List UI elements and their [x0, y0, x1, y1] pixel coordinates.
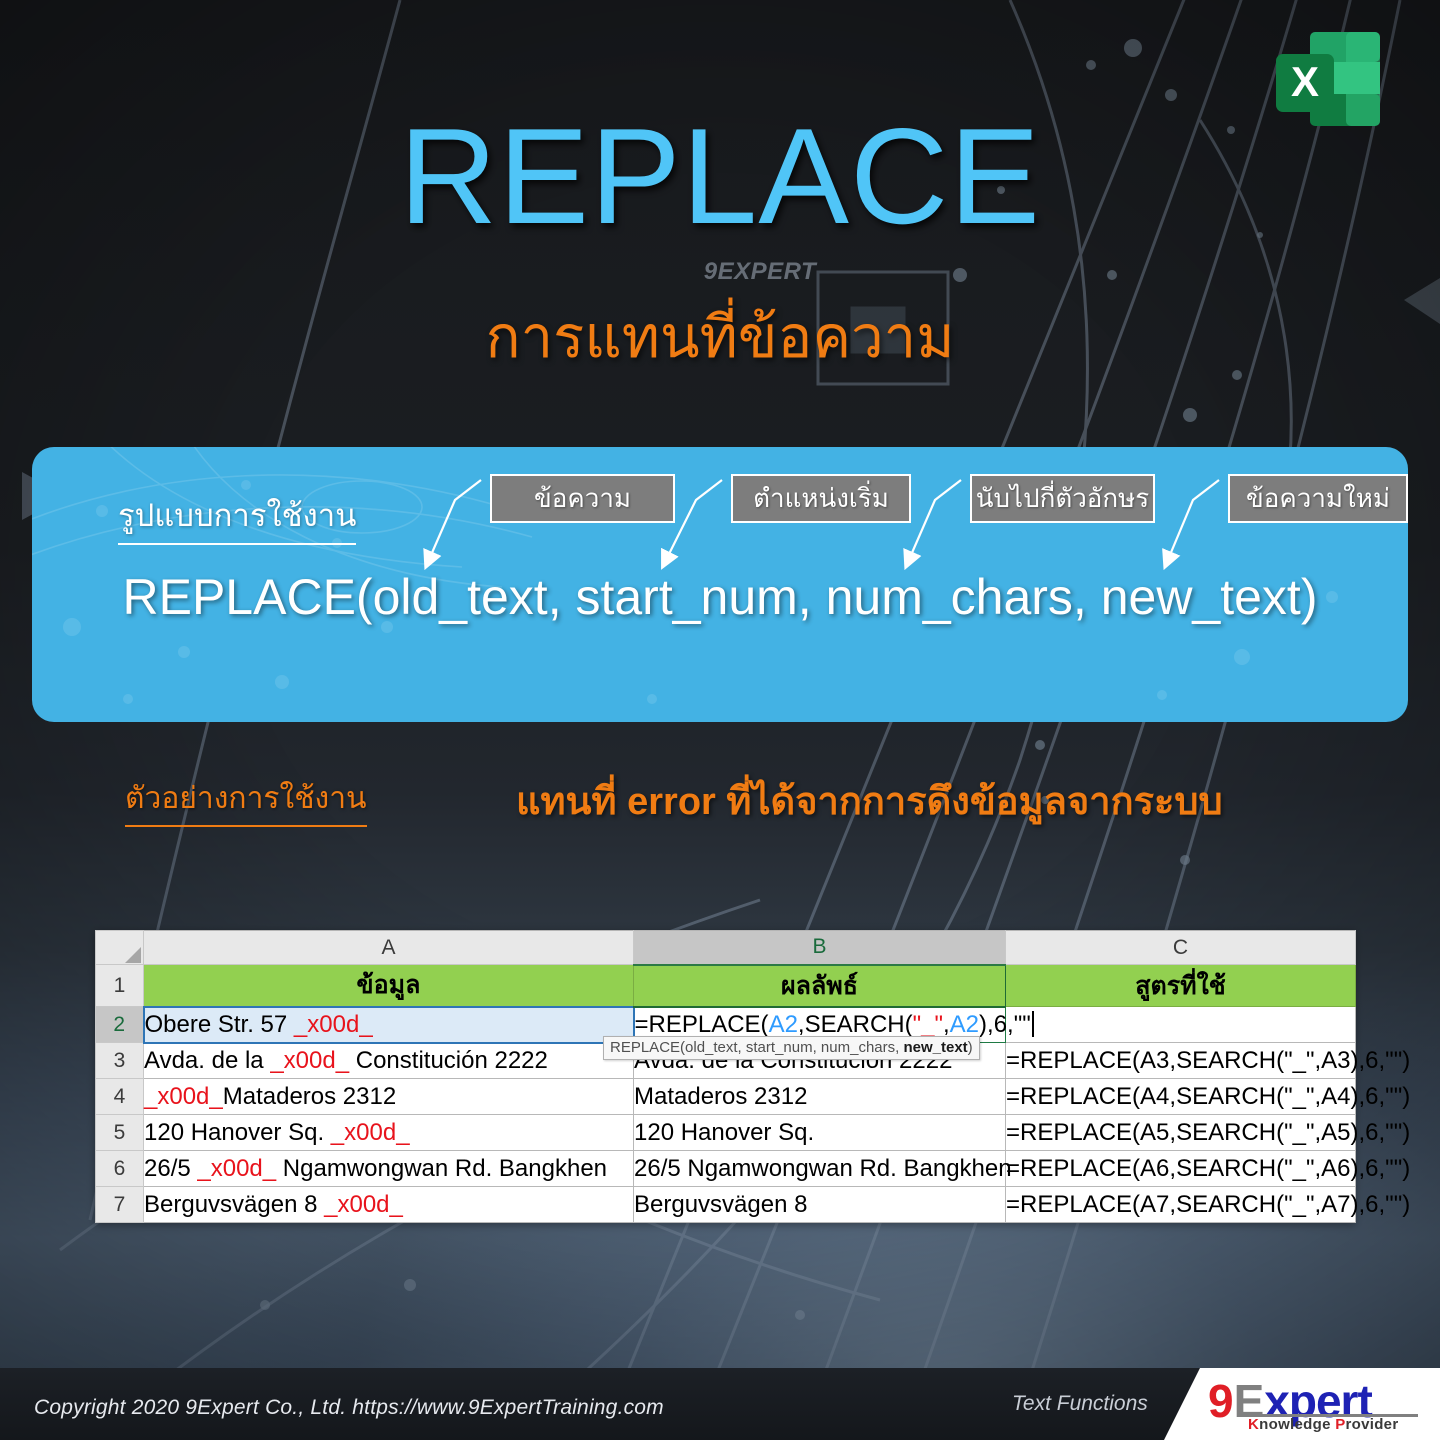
callout-start-num: ตำแหน่งเริ่ม: [731, 474, 911, 523]
cell-a5-error-token: _x00d_: [331, 1119, 410, 1146]
cell-c1[interactable]: สูตรที่ใช้: [1006, 965, 1356, 1007]
cell-a6-post: Ngamwongwan Rd. Bangkhen: [276, 1155, 607, 1182]
logo-tag-k: K: [1248, 1416, 1259, 1433]
syntax-formula: REPLACE(old_text, start_num, num_chars, …: [0, 568, 1440, 626]
formula-part-4: ),6,"": [979, 1011, 1031, 1038]
logo-tagline: Knowledge Provider: [1248, 1416, 1398, 1433]
cell-a3[interactable]: Avda. de la _x00d_ Constitución 2222: [144, 1043, 634, 1079]
formula-part-3: ,: [943, 1011, 950, 1038]
callout-old-text: ข้อความ: [490, 474, 675, 523]
cell-c2[interactable]: [1006, 1007, 1356, 1043]
table-row: 6 26/5 _x00d_ Ngamwongwan Rd. Bangkhen 2…: [96, 1151, 1356, 1187]
spreadsheet: A B C 1 ข้อมูล ผลลัพธ์ สูตรที่ใช้ 2 Ober…: [95, 930, 1355, 1223]
tooltip-suffix: ): [968, 1039, 973, 1056]
row-header-3[interactable]: 3: [96, 1043, 144, 1079]
callout-num-chars: นับไปกี่ตัวอักษร: [970, 474, 1155, 523]
cell-c7[interactable]: =REPLACE(A7,SEARCH("_",A7),6,""): [1006, 1187, 1356, 1223]
table-row: 7 Berguvsvägen 8 _x00d_ Berguvsvägen 8 =…: [96, 1187, 1356, 1223]
corner-triangle-icon: [125, 947, 141, 963]
formula-ref-a2-second: A2: [950, 1011, 979, 1038]
column-header-row: A B C: [96, 931, 1356, 965]
row-header-7[interactable]: 7: [96, 1187, 144, 1223]
cell-a4[interactable]: _x00d_Mataderos 2312: [144, 1079, 634, 1115]
svg-text:X: X: [1291, 58, 1319, 105]
cell-a5[interactable]: 120 Hanover Sq. _x00d_: [144, 1115, 634, 1151]
table-row: 4 _x00d_Mataderos 2312 Mataderos 2312 =R…: [96, 1079, 1356, 1115]
row-header-2[interactable]: 2: [96, 1007, 144, 1043]
formula-tooltip: REPLACE(old_text, start_num, num_chars, …: [603, 1036, 980, 1060]
column-header-c[interactable]: C: [1006, 931, 1356, 965]
cell-a3-post: Constitución 2222: [349, 1047, 548, 1074]
cell-a5-pre: 120 Hanover Sq.: [144, 1119, 331, 1146]
row-header-4[interactable]: 4: [96, 1079, 144, 1115]
table-row-header: 1 ข้อมูล ผลลัพธ์ สูตรที่ใช้: [96, 965, 1356, 1007]
cell-a6[interactable]: 26/5 _x00d_ Ngamwongwan Rd. Bangkhen: [144, 1151, 634, 1187]
watermark-text: 9EXPERT: [0, 258, 1440, 286]
cell-c3[interactable]: =REPLACE(A3,SEARCH("_",A3),6,""): [1006, 1043, 1356, 1079]
cell-a2-error-token: _x00d_: [294, 1011, 373, 1038]
cell-a2-pre: Obere Str. 57: [145, 1011, 294, 1038]
formula-part-2: ,SEARCH(: [798, 1011, 913, 1038]
cell-a6-pre: 26/5: [144, 1155, 197, 1182]
cell-a3-error-token: _x00d_: [270, 1047, 349, 1074]
cell-b6[interactable]: 26/5 Ngamwongwan Rd. Bangkhen: [634, 1151, 1006, 1187]
logo-nine: 9: [1208, 1375, 1234, 1427]
cell-b7[interactable]: Berguvsvägen 8: [634, 1187, 1006, 1223]
cell-c4[interactable]: =REPLACE(A4,SEARCH("_",A4),6,""): [1006, 1079, 1356, 1115]
row-header-1[interactable]: 1: [96, 965, 144, 1007]
logo-tag-p: P: [1335, 1416, 1345, 1433]
cell-a7-error-token: _x00d_: [324, 1191, 403, 1218]
column-header-b[interactable]: B: [634, 931, 1006, 965]
text-caret: [1032, 1011, 1034, 1037]
formula-ref-a2-first: A2: [769, 1011, 798, 1038]
cell-a7[interactable]: Berguvsvägen 8 _x00d_: [144, 1187, 634, 1223]
cell-a1[interactable]: ข้อมูล: [144, 965, 634, 1007]
cell-a2[interactable]: Obere Str. 57 _x00d_: [144, 1007, 634, 1043]
cell-c5[interactable]: =REPLACE(A5,SEARCH("_",A5),6,""): [1006, 1115, 1356, 1151]
table-row: 5 120 Hanover Sq. _x00d_ 120 Hanover Sq.…: [96, 1115, 1356, 1151]
row-header-6[interactable]: 6: [96, 1151, 144, 1187]
logo-tag-end: rovider: [1346, 1416, 1399, 1433]
example-description: แทนที่ error ที่ได้จากการดึงข้อมูลจากระบ…: [516, 770, 1223, 831]
cell-b5[interactable]: 120 Hanover Sq.: [634, 1115, 1006, 1151]
cell-b1[interactable]: ผลลัพธ์: [634, 965, 1006, 1007]
cell-a4-post: Mataderos 2312: [223, 1083, 396, 1110]
page-title: REPLACE: [0, 108, 1440, 244]
callout-new-text: ข้อความใหม่: [1228, 474, 1408, 523]
syntax-label: รูปแบบการใช้งาน: [118, 490, 356, 545]
row-header-5[interactable]: 5: [96, 1115, 144, 1151]
cell-a6-error-token: _x00d_: [197, 1155, 276, 1182]
page-subtitle: การแทนที่ข้อความ: [0, 305, 1440, 372]
cell-b4[interactable]: Mataderos 2312: [634, 1079, 1006, 1115]
formula-quoted-underscore: "_": [913, 1011, 943, 1038]
formula-part-1: =REPLACE(: [635, 1011, 769, 1038]
cell-c6[interactable]: =REPLACE(A6,SEARCH("_",A6),6,""): [1006, 1151, 1356, 1187]
example-label: ตัวอย่างการใช้งาน: [125, 775, 367, 827]
category-label: Text Functions: [1012, 1392, 1148, 1416]
copyright-text: Copyright 2020 9Expert Co., Ltd. https:/…: [34, 1396, 664, 1420]
column-header-a[interactable]: A: [144, 931, 634, 965]
tooltip-prefix: REPLACE(old_text, start_num, num_chars,: [610, 1039, 903, 1056]
spreadsheet-grid: A B C 1 ข้อมูล ผลลัพธ์ สูตรที่ใช้ 2 Ober…: [95, 930, 1356, 1223]
cell-a7-pre: Berguvsvägen 8: [144, 1191, 324, 1218]
select-all-corner[interactable]: [96, 931, 144, 965]
tooltip-bold-arg: new_text: [903, 1039, 967, 1056]
cell-a3-pre: Avda. de la: [144, 1047, 270, 1074]
cell-a4-error-token: _x00d_: [144, 1083, 223, 1110]
logo-tag-mid: nowledge: [1259, 1416, 1335, 1433]
